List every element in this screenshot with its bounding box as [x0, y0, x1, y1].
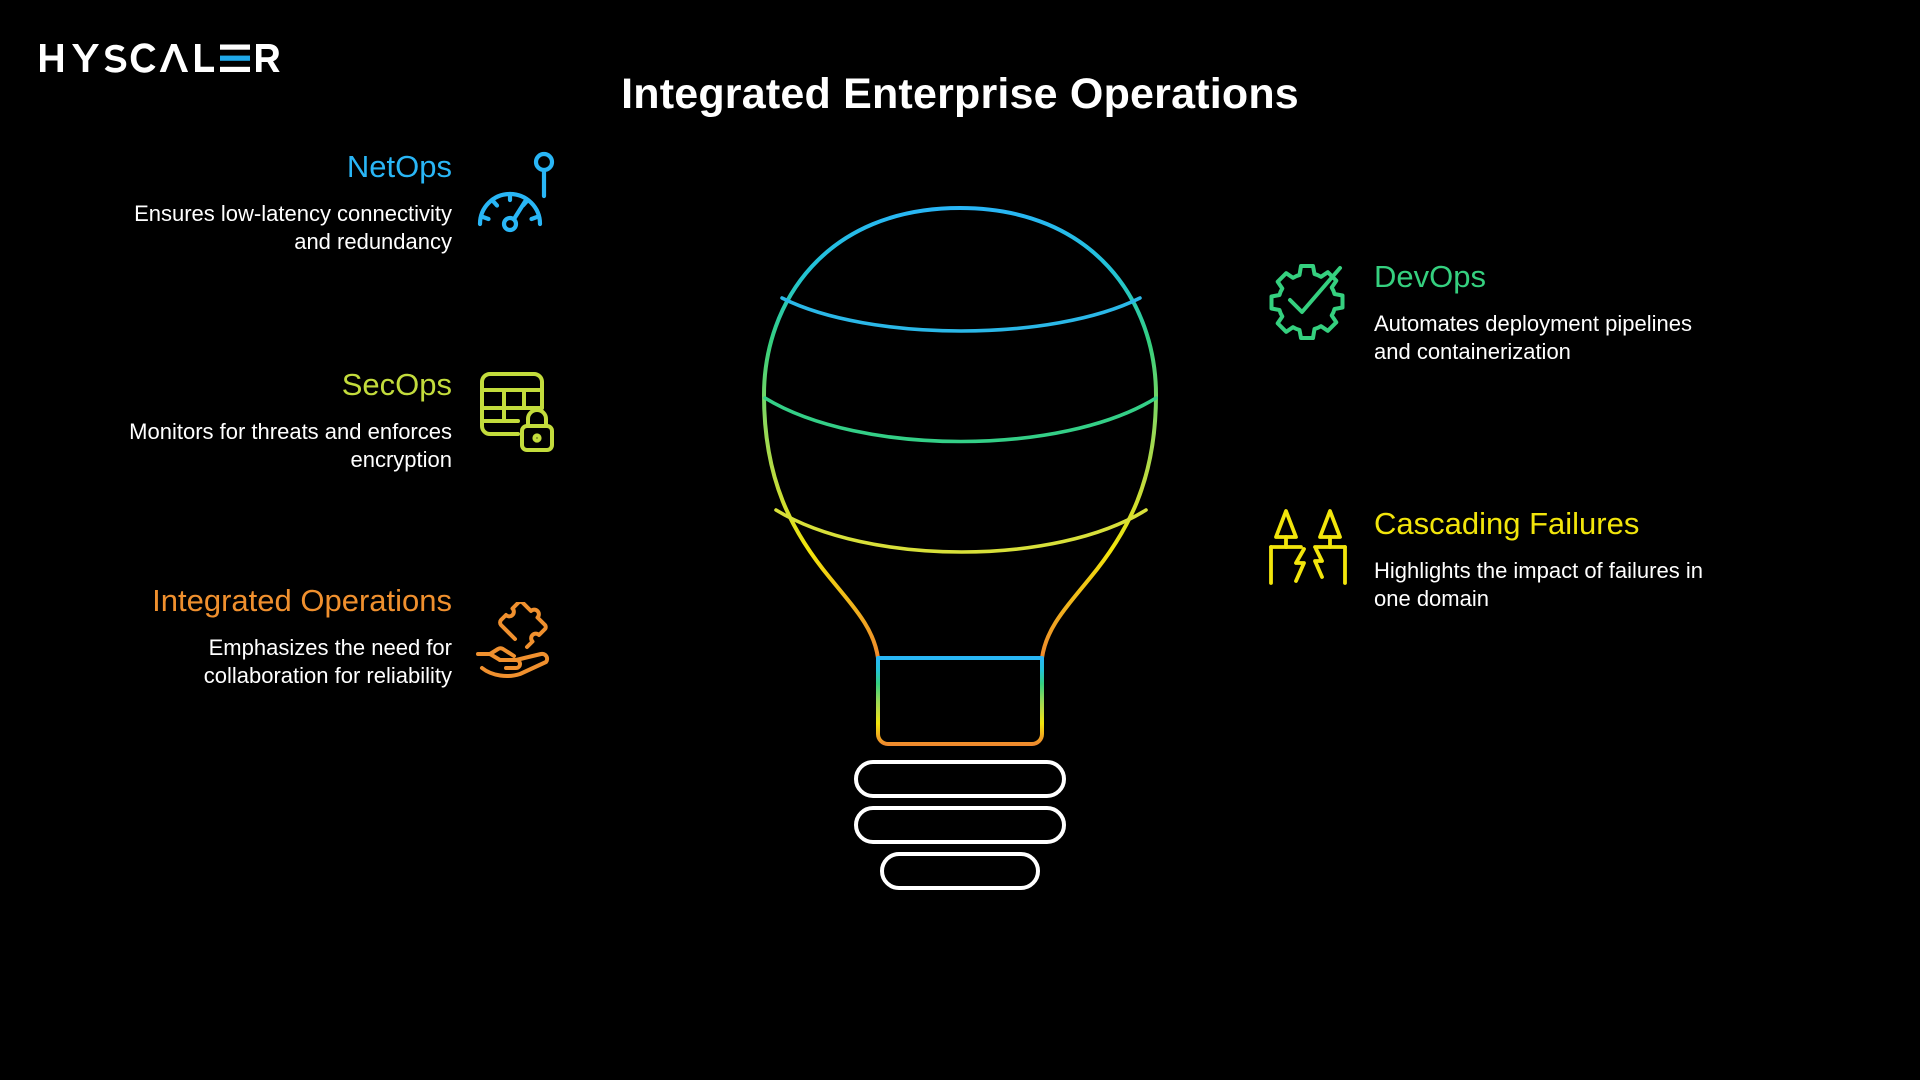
- feature-cascading-failures: Cascading Failures Highlights the impact…: [1268, 505, 1738, 613]
- feature-devops: DevOps Automates deployment pipelines an…: [1268, 258, 1728, 366]
- feature-netops: NetOps Ensures low-latency connectivity …: [118, 148, 558, 256]
- infographic-canvas: Integrated Enterprise Operations NetOps …: [0, 0, 1920, 1080]
- page-title: Integrated Enterprise Operations: [0, 70, 1920, 119]
- feature-secops-label: SecOps: [342, 366, 452, 404]
- speedometer-icon: [474, 148, 558, 245]
- feature-secops: SecOps Monitors for threats and enforces…: [118, 366, 558, 474]
- bulb-screw-base: [856, 762, 1064, 888]
- feature-integrated-operations-label: Integrated Operations: [152, 582, 452, 620]
- hand-puzzle-icon: [474, 602, 558, 687]
- gear-check-icon: [1268, 258, 1352, 355]
- feature-integrated-operations: Integrated Operations Emphasizes the nee…: [118, 582, 558, 690]
- feature-cascading-failures-label: Cascading Failures: [1374, 505, 1639, 543]
- feature-integrated-operations-description: Emphasizes the need for collaboration fo…: [118, 634, 452, 690]
- feature-cascading-failures-text: Cascading Failures Highlights the impact…: [1374, 505, 1738, 613]
- feature-integrated-operations-text: Integrated Operations Emphasizes the nee…: [118, 582, 452, 690]
- feature-netops-text: NetOps Ensures low-latency connectivity …: [118, 148, 452, 256]
- feature-secops-text: SecOps Monitors for threats and enforces…: [118, 366, 452, 474]
- feature-netops-label: NetOps: [347, 148, 452, 186]
- bulb-glass-outline: [764, 208, 1156, 744]
- feature-netops-description: Ensures low-latency connectivity and red…: [118, 200, 452, 256]
- lightbulb-diagram: [690, 180, 1230, 920]
- bulb-segment-dividers: [765, 298, 1156, 552]
- table-lock-icon: [474, 366, 558, 463]
- feature-cascading-failures-description: Highlights the impact of failures in one…: [1374, 557, 1738, 613]
- broken-power-lines-icon: [1268, 505, 1352, 602]
- feature-devops-description: Automates deployment pipelines and conta…: [1374, 310, 1728, 366]
- feature-devops-label: DevOps: [1374, 258, 1486, 296]
- feature-devops-text: DevOps Automates deployment pipelines an…: [1374, 258, 1728, 366]
- logo-accent-bar: [220, 56, 250, 61]
- feature-secops-description: Monitors for threats and enforces encryp…: [118, 418, 452, 474]
